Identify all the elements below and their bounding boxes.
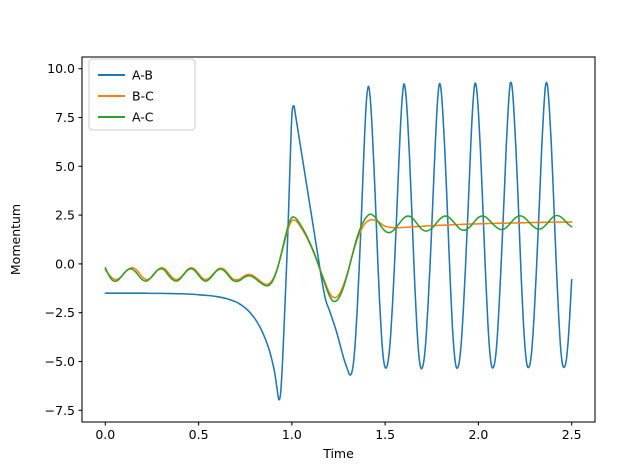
x-tick-label: 2.5 — [562, 427, 582, 442]
x-tick-label: 0.5 — [189, 427, 209, 442]
matplotlib-figure: 0.00.51.01.52.02.5−7.5−5.0−2.50.02.55.07… — [0, 0, 640, 472]
x-tick-label: 0.0 — [95, 427, 115, 442]
y-tick-label: 5.0 — [55, 159, 75, 174]
y-axis-label: Momentum — [8, 204, 23, 275]
x-tick-label: 1.0 — [282, 427, 302, 442]
legend-label-a-c[interactable]: A-C — [132, 110, 154, 125]
chart-canvas: 0.00.51.01.52.02.5−7.5−5.0−2.50.02.55.07… — [0, 0, 640, 472]
y-tick-label: 0.0 — [55, 256, 75, 271]
y-tick-label: 2.5 — [55, 208, 75, 223]
x-tick-label: 1.5 — [375, 427, 395, 442]
legend-label-b-c[interactable]: B-C — [132, 89, 154, 104]
x-tick-label: 2.0 — [468, 427, 488, 442]
y-tick-label: −2.5 — [45, 305, 75, 320]
legend[interactable]: A-BB-CA-C — [89, 59, 195, 130]
y-tick-label: −5.0 — [45, 354, 75, 369]
y-tick-label: −7.5 — [45, 403, 75, 418]
x-axis-label: Time — [322, 446, 354, 461]
legend-label-a-b[interactable]: A-B — [132, 68, 153, 83]
y-tick-label: 10.0 — [47, 61, 75, 76]
y-tick-label: 7.5 — [55, 110, 75, 125]
